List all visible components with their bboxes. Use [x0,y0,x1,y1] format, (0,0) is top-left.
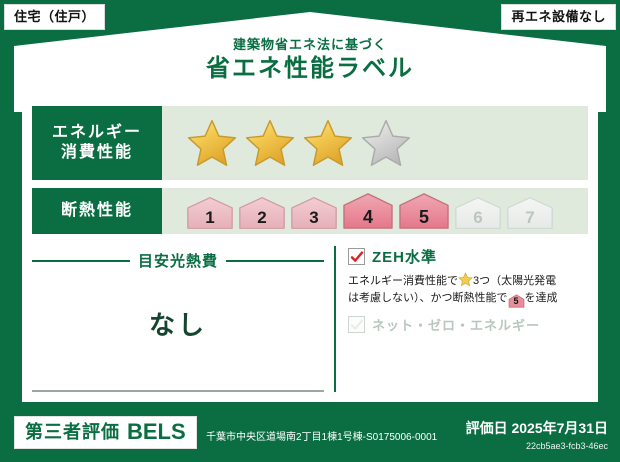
utility-cost-value: なし [32,305,324,342]
energy-performance-row: エネルギー 消費性能 [32,106,588,180]
net-zero-energy-checkbox [348,316,365,333]
inline-star-icon [458,272,473,286]
tag-dwelling-type: 住宅（住戸） [4,4,105,30]
label-body-panel: エネルギー 消費性能 断熱性能 1234567 目安光熱費 なし [22,96,598,402]
page-title: 省エネ性能ラベル [0,56,620,82]
inline-grade-badge-number: 5 [513,296,518,306]
tag-renewable-equipment: 再エネ設備なし [501,4,616,30]
insulation-performance-row: 断熱性能 1234567 [32,188,588,234]
insulation-grade-number: 1 [205,208,214,228]
star-rating [186,118,412,168]
section-divider [334,246,336,392]
bels-badge-jp: 第三者評価 [25,423,120,441]
evaluation-hash: 22cb5ae3-fcb3-46ec [466,441,608,451]
insulation-grade-number: 3 [309,208,318,228]
zeh-description: エネルギー消費性能で3つ（太陽光発電 は考慮しない）、かつ断熱性能で5を達成 [348,272,590,308]
utility-cost-heading: 目安光熱費 [32,250,324,271]
energy-label-line2: 消費性能 [61,143,133,163]
zeh-standard-row: ZEH水準 [348,246,590,267]
insulation-performance-value: 1234567 [162,188,588,234]
evaluation-date: 評価日 2025年7月31日 [466,418,608,438]
insulation-grade-number: 6 [473,208,482,228]
label-title-block: 建築物省エネ法に基づく 省エネ性能ラベル [0,38,620,83]
zeh-desc-part1: エネルギー消費性能で [348,275,458,287]
star-filled-icon [302,118,354,168]
energy-label-line1: エネルギー [52,123,142,143]
bels-badge-en: BELS [127,421,186,443]
zeh-block: ZEH水準 エネルギー消費性能で3つ（太陽光発電 は考慮しない）、かつ断熱性能で… [348,246,590,334]
label-footer: 第三者評価 BELS 千葉市中央区道場南2丁目1棟1号棟-S0175006-00… [0,406,620,462]
property-address: 千葉市中央区道場南2丁目1棟1号棟-S0175006-0001 [206,428,437,443]
zeh-standard-label: ZEH水準 [372,246,437,267]
insulation-grade-2: 2 [238,196,286,230]
insulation-grade-3: 3 [290,196,338,230]
label-subtitle: 建築物省エネ法に基づく [0,38,620,52]
insulation-grade-scale: 1234567 [186,192,554,230]
zeh-desc-part3: を達成 [525,292,558,304]
zeh-desc-starcount: 3つ（太陽光発電 [473,275,556,287]
zeh-checkbox [348,248,365,265]
zeh-desc-part2: は考慮しない）、かつ断熱性能で [348,292,508,304]
insulation-grade-number: 2 [257,208,266,228]
rule-left [32,260,130,262]
energy-performance-value [162,106,588,180]
insulation-grade-number: 7 [525,208,534,228]
star-filled-icon [244,118,296,168]
rule-right [226,260,324,262]
bels-badge: 第三者評価 BELS [14,416,197,449]
inline-grade-badge: 5 [508,294,525,308]
insulation-grade-number: 4 [363,207,373,228]
insulation-grade-6: 6 [454,196,502,230]
insulation-grade-4: 4 [342,192,394,230]
star-filled-icon [186,118,238,168]
utility-cost-heading-text: 目安光熱費 [138,250,218,271]
utility-cost-box: 目安光熱費 なし [32,246,324,392]
energy-performance-label: エネルギー 消費性能 [32,106,162,180]
insulation-grade-1: 1 [186,196,234,230]
energy-performance-label: 建築物省エネ法に基づく 省エネ性能ラベル 住宅（住戸） 再エネ設備なし エネルギ… [0,0,620,462]
net-zero-energy-label: ネット・ゼロ・エネルギー [372,315,540,334]
insulation-label-text: 断熱性能 [61,201,133,221]
insulation-performance-label: 断熱性能 [32,188,162,234]
insulation-grade-7: 7 [506,196,554,230]
insulation-grade-5: 5 [398,192,450,230]
star-empty-icon [360,118,412,168]
net-zero-energy-row: ネット・ゼロ・エネルギー [348,315,590,334]
insulation-grade-number: 5 [419,207,429,228]
evaluation-date-block: 評価日 2025年7月31日 22cb5ae3-fcb3-46ec [466,418,608,451]
